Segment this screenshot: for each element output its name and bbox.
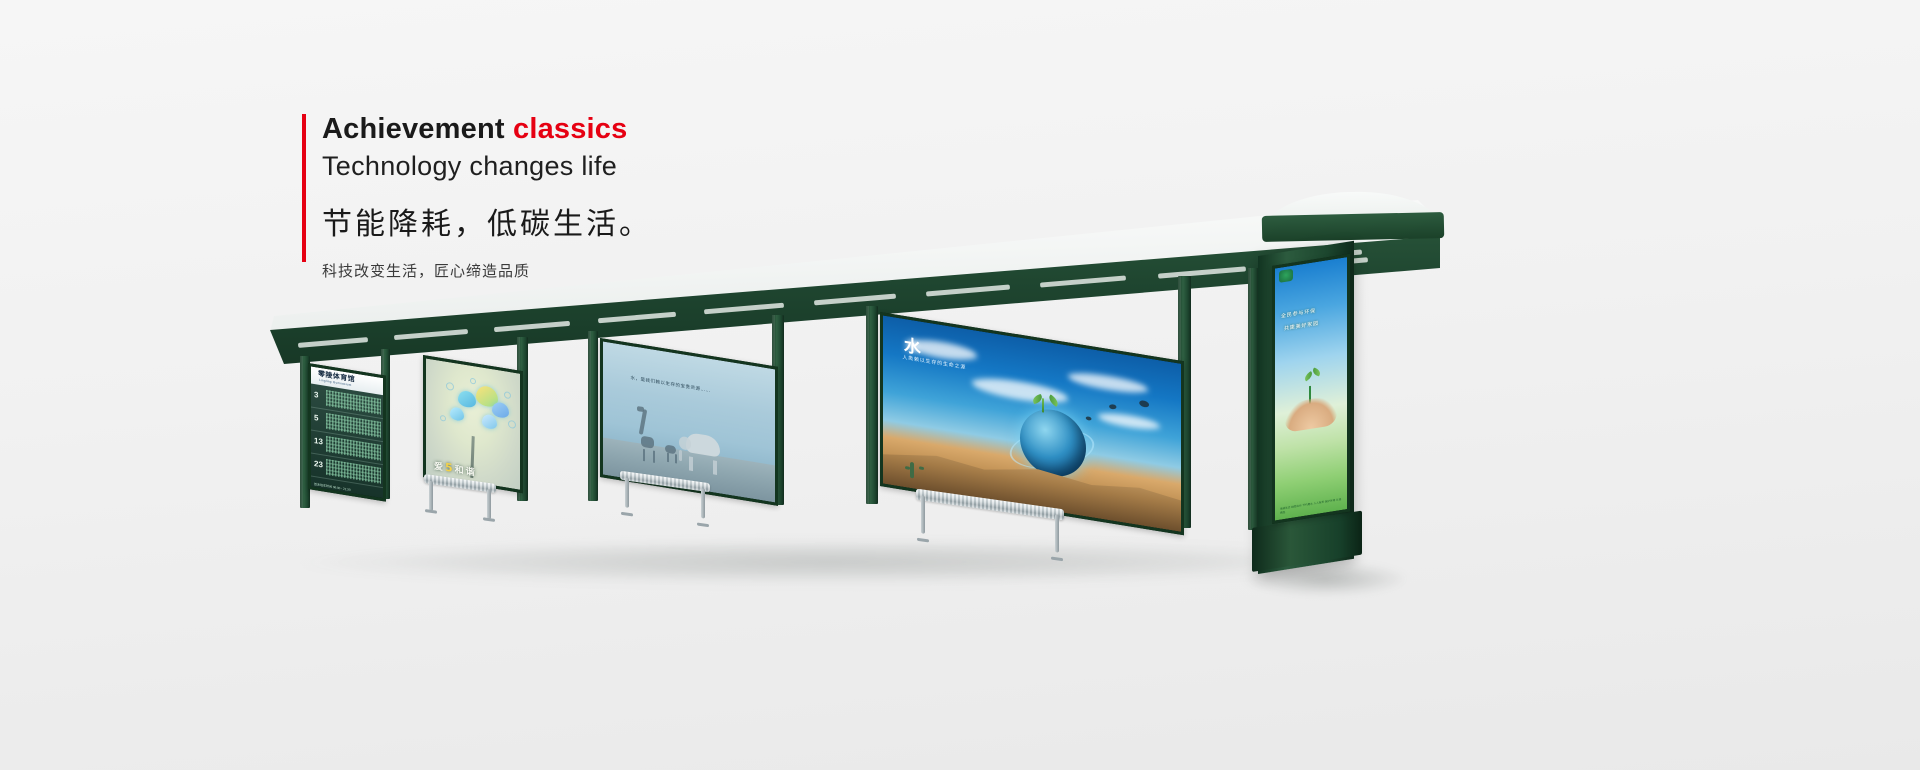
shelter-post — [866, 306, 878, 504]
bench-leg — [701, 488, 705, 519]
ad-panel-green-tower[interactable]: 全民参与环保 共建美好家园 低碳生活 绿色出行 节约用水 人人有责 保护环境 从… — [1272, 254, 1350, 524]
bench-leg — [921, 495, 925, 534]
elephant-leg — [713, 460, 717, 475]
ad-artwork-love-tree: 爱5和谐 — [426, 358, 520, 489]
scene-background: Achievement classics Technology changes … — [0, 0, 1920, 770]
cactus-arm — [905, 466, 910, 470]
ad-love-number: 5 — [445, 461, 455, 476]
deer-leg — [675, 454, 677, 463]
floor-shadow — [293, 540, 1367, 584]
elephant-trunk — [679, 449, 682, 460]
timetable-panel[interactable]: 零陵体育馆 Lingling Gymnasium 3 5 13 — [308, 363, 386, 502]
roof-beam — [814, 294, 896, 306]
leaf-icon — [1311, 368, 1322, 377]
ad-panel-love-tree[interactable]: 爱5和谐 — [423, 355, 523, 493]
roof-beam — [704, 303, 784, 315]
bench-leg — [1055, 514, 1059, 553]
giraffe-head — [637, 406, 644, 412]
giraffe-silhouette — [639, 409, 647, 435]
ad-green-line-2: 共建美好家园 — [1284, 320, 1319, 333]
leaf-icon — [1303, 371, 1314, 381]
roof-beam — [926, 284, 1010, 296]
cactus-arm — [919, 466, 924, 470]
bench-foot — [425, 509, 437, 514]
roof-beam — [1158, 266, 1246, 278]
shelter-post — [588, 331, 598, 501]
ad-animals-caption: 水，是我们赖以生存的宝贵资源…… — [631, 375, 711, 394]
ad-green-line-1: 全民参与环保 — [1281, 307, 1316, 320]
roof-beam — [1040, 275, 1126, 287]
timetable-display: 零陵体育馆 Lingling Gymnasium 3 5 13 — [311, 366, 383, 498]
bird-icon: ⬬ — [1139, 397, 1150, 411]
cactus-icon — [910, 462, 914, 479]
giraffe-body — [641, 435, 654, 448]
bench-leg — [429, 481, 433, 512]
deer-leg — [667, 453, 669, 462]
ad-artwork-green: 全民参与环保 共建美好家园 低碳生活 绿色出行 节约用水 人人有责 保护环境 从… — [1275, 257, 1347, 520]
route-number: 5 — [314, 413, 318, 423]
bubble-decor — [504, 391, 511, 399]
cloud-decor — [1098, 411, 1160, 433]
ad-green-footer: 低碳生活 绿色出行 节约用水 人人有责 保护环境 从我做起 — [1280, 498, 1343, 516]
bus-shelter-render: 零陵体育馆 Lingling Gymnasium 3 5 13 — [0, 0, 1920, 770]
roof-beam — [494, 321, 570, 332]
elephant-leg — [689, 456, 693, 471]
bubble-decor — [446, 382, 454, 391]
giraffe-leg — [643, 449, 645, 461]
bench-foot — [697, 522, 709, 527]
brand-logo-icon — [1279, 269, 1293, 283]
sprout-stem — [1042, 398, 1044, 412]
heart-icon — [458, 390, 476, 409]
roof-beam — [394, 329, 468, 340]
bubble-decor — [440, 415, 446, 422]
route-stops-strip — [326, 459, 381, 484]
ad-love-tail: 和谐 — [455, 465, 477, 479]
bubble-decor — [508, 420, 516, 429]
bench-leg — [625, 477, 629, 508]
bench-foot — [621, 512, 633, 517]
timetable-route-list: 3 5 13 23 — [311, 384, 383, 490]
giraffe-leg — [653, 451, 655, 463]
route-number: 3 — [314, 390, 318, 400]
route-number: 13 — [314, 436, 323, 446]
bird-icon: ⬬ — [1109, 403, 1118, 412]
heart-icon — [482, 414, 497, 430]
heart-icon — [450, 406, 464, 421]
ad-love-word: 爱 — [434, 462, 445, 474]
bubble-decor — [470, 378, 476, 385]
heart-icon — [492, 401, 509, 419]
bench-foot — [483, 517, 495, 522]
cloud-decor — [1068, 369, 1148, 396]
bird-icon: ⬬ — [1086, 415, 1092, 423]
roof-beam — [298, 337, 368, 348]
bench-leg — [487, 489, 491, 520]
route-number: 23 — [314, 459, 323, 469]
hands-graphic — [1285, 395, 1337, 433]
roof-beam — [598, 312, 676, 324]
